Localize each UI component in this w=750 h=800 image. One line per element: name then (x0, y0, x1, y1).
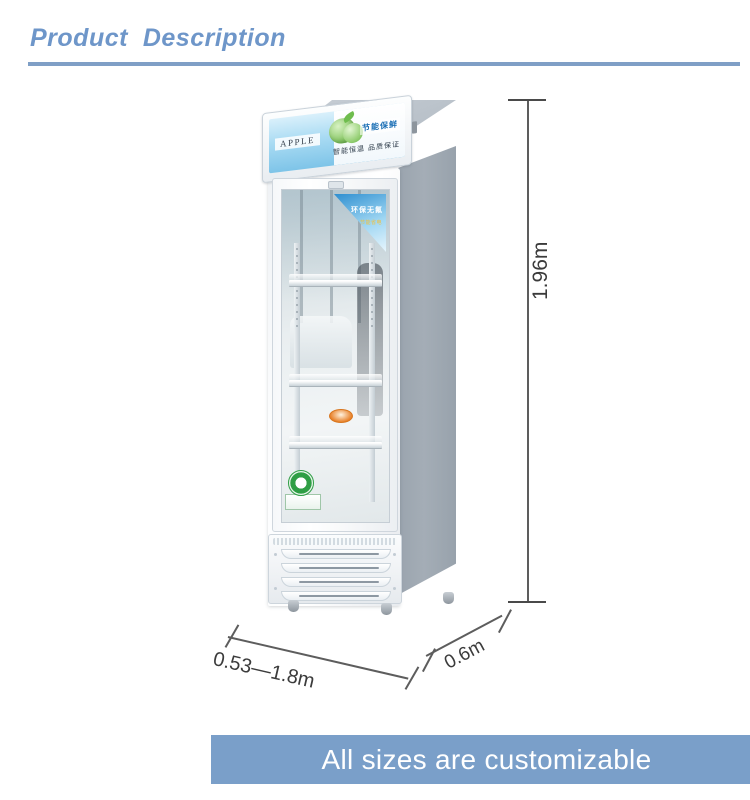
energy-label-tag (285, 494, 321, 510)
glass-reflection-pole (300, 190, 303, 323)
height-dimension-cap-top (508, 99, 546, 101)
customizable-banner: All sizes are customizable (211, 735, 750, 784)
door-lock-icon (328, 181, 344, 189)
cabinet-side-panel (398, 146, 456, 595)
brand-label: APPLE (275, 133, 320, 151)
caster-wheel (288, 600, 299, 612)
product-image: APPLE 节能保鲜 智能恒温 品质保证 (0, 0, 750, 720)
grille-mesh-strip (273, 538, 397, 545)
caster-wheel (381, 603, 392, 615)
canopy-graphic-panel: APPLE 节能保鲜 智能恒温 品质保证 (269, 103, 405, 174)
bottom-vent-grille (268, 534, 402, 604)
banner-text: All sizes are customizable (211, 735, 750, 784)
product-description-page: Product Description APPLE 节能保鲜 智能恒温 品质保证 (0, 0, 750, 800)
glass-reflection-pole (330, 190, 333, 323)
energy-label-sticker (288, 470, 314, 496)
shelf (289, 280, 381, 287)
glass-door-frame: 环保无氟 绿色环保 节能省电 (272, 178, 398, 532)
height-dimension-line (527, 100, 529, 602)
height-dimension-label: 1.96m (529, 242, 553, 300)
canopy-hinge (412, 121, 417, 134)
eco-sticker-title: 环保无氟 (351, 205, 383, 215)
shelf (289, 380, 381, 387)
glass-door-panel: 环保无氟 绿色环保 节能省电 (281, 189, 390, 523)
caster-wheel (443, 592, 454, 604)
shelf (289, 442, 381, 449)
quality-seal-sticker (329, 409, 353, 423)
height-dimension-cap-bottom (508, 601, 546, 603)
